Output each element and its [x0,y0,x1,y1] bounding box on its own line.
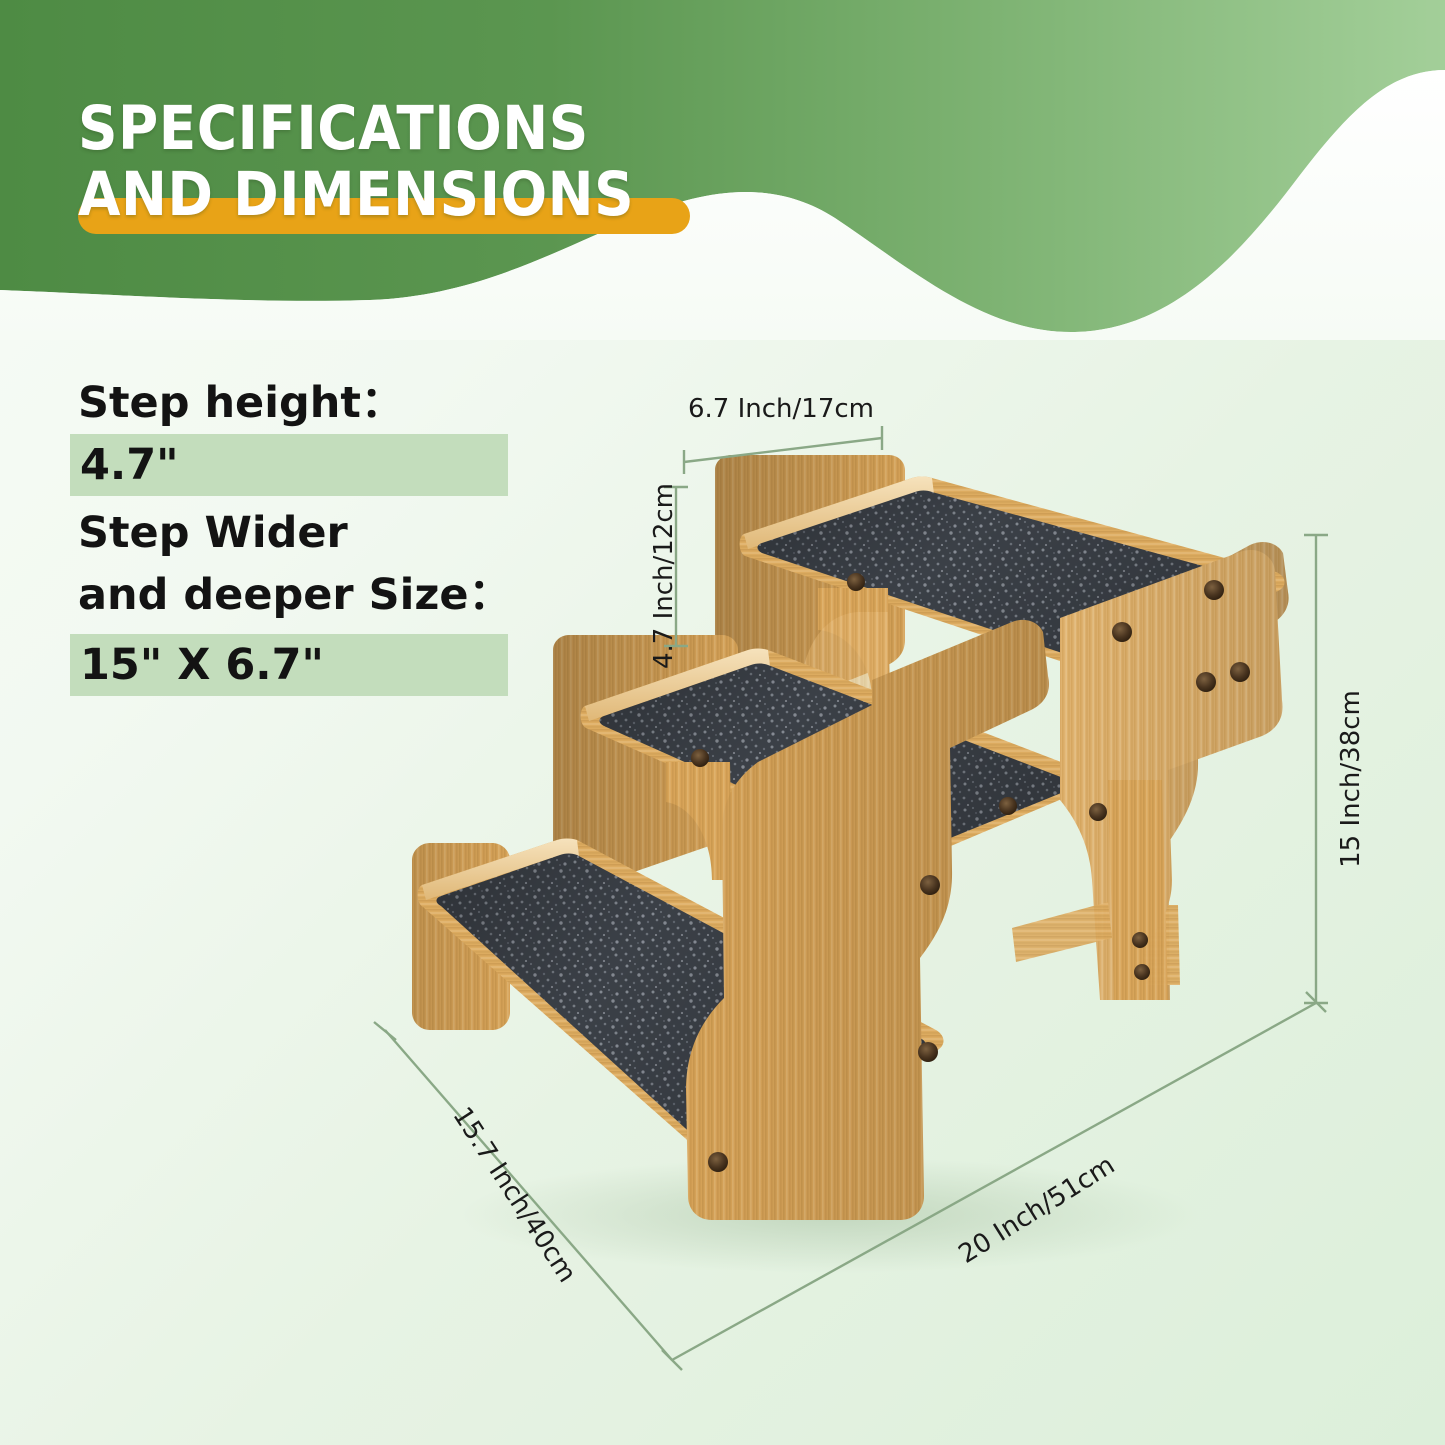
bottom-step-carpet [437,854,927,1141]
step-height-value: 4.7" [78,440,179,490]
page-title: SPECIFICATIONS AND DIMENSIONS [78,96,838,228]
top-step-tread-board [740,477,1285,671]
specification-graphic: SPECIFICATIONS AND DIMENSIONS Step heigh… [0,0,1445,1445]
top-step-support [818,588,890,700]
title-line-1: SPECIFICATIONS [78,96,838,162]
dimension-label-total-width: 20 Inch/51cm [954,1150,1121,1270]
dimline-top-depth [684,438,882,462]
screw-icon [999,797,1017,815]
left-side-panel [412,843,510,1030]
step-bottom [418,839,944,1149]
right-side-panel [1085,542,1289,1000]
front-right-side-panel [686,620,1098,1220]
screw-icon [1132,932,1148,948]
middle-step-support [666,762,732,880]
step-top [715,455,1285,700]
step-height-label: Step height： [78,372,548,434]
screw-icon [918,1042,938,1062]
screw-icon [708,1152,728,1172]
stretcher-bar [1012,902,1112,962]
screw-icon [920,875,940,895]
dimension-label-total-height: 15 Inch/38cm [1336,690,1366,868]
step-middle [553,635,1090,900]
title-line-2: AND DIMENSIONS [78,162,838,228]
dimension-label-top-depth: 6.7 Inch/17cm [688,394,874,424]
rear-right-board [1012,550,1283,1000]
step-height-value-row: 4.7" [78,434,548,496]
screw-icon [1196,672,1216,692]
middle-step-carpet [600,664,1073,857]
dimension-label-step-rise: 4.7 Inch/12cm [649,483,679,669]
screw-icon [1112,622,1132,642]
screw-icon [847,573,865,591]
top-step-back-panel [715,455,905,700]
screw-icon [1089,803,1107,821]
dimline-total-width [672,1003,1316,1360]
specs-text-block: Step height： 4.7" Step Wider and deeper … [78,372,548,696]
bottom-step-tread-board [418,839,944,1149]
screw-icon [691,749,709,767]
top-step-front-edge [744,477,934,550]
header-banner: SPECIFICATIONS AND DIMENSIONS [0,0,1445,340]
step-size-value-row: 15" X 6.7" [78,634,548,696]
middle-step-tread-board [581,649,1090,865]
bottom-step-front-edge [422,839,579,901]
step-size-value: 15" X 6.7" [78,640,324,690]
left-panel-top-block [412,843,510,1030]
screw-icon [1204,580,1224,600]
screw-icon [1134,964,1150,980]
dimension-label-total-depth: 15.7 Inch/40cm [447,1102,582,1288]
step-size-label-line2: and deeper Size： [78,564,548,626]
rear-leg [1108,780,1168,1000]
screw-icon [1230,662,1250,682]
middle-step-back-panel [553,635,738,900]
top-step-carpet [758,491,1265,663]
step-size-label-line1: Step Wider [78,502,548,564]
